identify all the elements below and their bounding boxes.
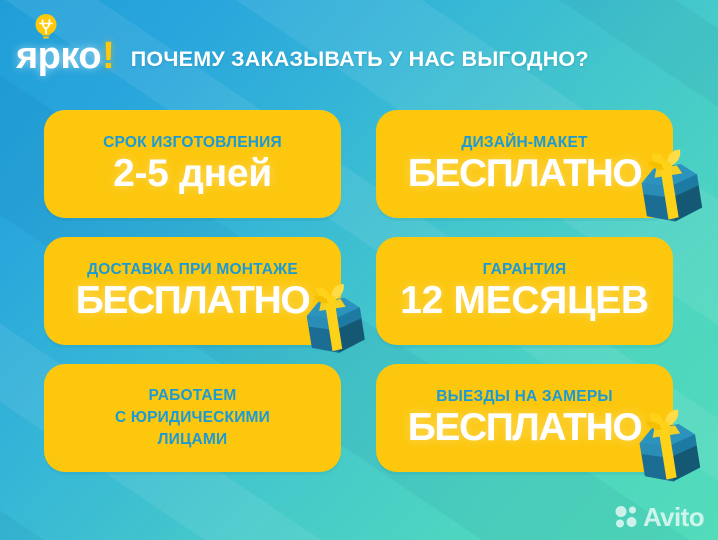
benefit-subtitle-line-1: РАБОТАЕМ (149, 385, 237, 407)
benefit-subtitle: ДОСТАВКА ПРИ МОНТАЖЕ (87, 261, 298, 279)
benefit-value: БЕСПЛАТНО (408, 408, 642, 448)
benefit-subtitle-line-3: ЛИЦАМИ (158, 429, 228, 451)
benefit-card-warranty[interactable]: ГАРАНТИЯ 12 МЕСЯЦЕВ (376, 237, 673, 345)
benefit-value: 12 МЕСЯЦЕВ (400, 281, 649, 321)
avito-watermark: Avito (614, 504, 704, 530)
benefit-subtitle: СРОК ИЗГОТОВЛЕНИЯ (103, 134, 282, 152)
banner-header: ярко ! ПОЧЕМУ ЗАКАЗЫВАТЬ У НАС ВЫГОДНО? (16, 28, 589, 74)
benefit-subtitle: ВЫЕЗДЫ НА ЗАМЕРЫ (436, 388, 613, 406)
page-title: ПОЧЕМУ ЗАКАЗЫВАТЬ У НАС ВЫГОДНО? (131, 49, 589, 75)
avito-dots-icon (614, 505, 640, 529)
benefit-value: БЕСПЛАТНО (76, 281, 310, 321)
lightbulb-icon (31, 11, 61, 41)
logo-exclamation: ! (102, 39, 115, 74)
avito-wordmark: Avito (643, 504, 704, 530)
benefit-subtitle: ГАРАНТИЯ (483, 261, 567, 279)
benefit-value: 2-5 дней (113, 154, 272, 194)
benefit-card-measurement-visits[interactable]: ВЫЕЗДЫ НА ЗАМЕРЫ БЕСПЛАТНО (376, 364, 673, 472)
benefit-card-design-layout[interactable]: ДИЗАЙН-МАКЕТ БЕСПЛАТНО (376, 110, 673, 218)
benefit-subtitle: ДИЗАЙН-МАКЕТ (461, 134, 587, 152)
brand-logo[interactable]: ярко ! (16, 39, 115, 74)
benefit-card-delivery[interactable]: ДОСТАВКА ПРИ МОНТАЖЕ БЕСПЛАТНО (44, 237, 341, 345)
logo-wordmark: ярко (16, 39, 101, 74)
benefit-subtitle-line-2: С ЮРИДИЧЕСКИМИ (115, 407, 270, 429)
promo-banner: ярко ! ПОЧЕМУ ЗАКАЗЫВАТЬ У НАС ВЫГОДНО? … (0, 0, 718, 540)
benefit-card-production-time[interactable]: СРОК ИЗГОТОВЛЕНИЯ 2-5 дней (44, 110, 341, 218)
benefit-card-legal-entities[interactable]: РАБОТАЕМ С ЮРИДИЧЕСКИМИ ЛИЦАМИ (44, 364, 341, 472)
benefit-value: БЕСПЛАТНО (408, 154, 642, 194)
benefits-grid: СРОК ИЗГОТОВЛЕНИЯ 2-5 дней ДИЗАЙН-МАКЕТ … (44, 110, 676, 472)
